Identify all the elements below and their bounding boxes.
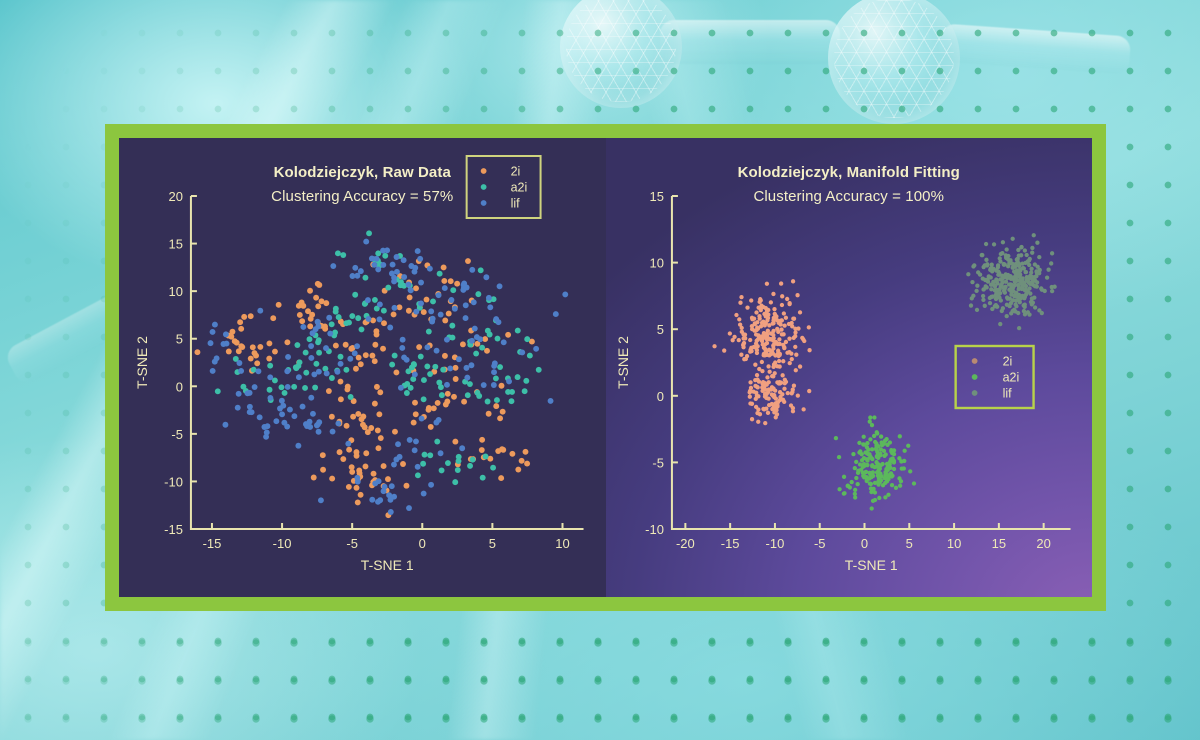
legend-label-a2i: a2i: [1002, 370, 1019, 384]
svg-text:-20: -20: [675, 536, 694, 551]
svg-text:-10: -10: [645, 522, 664, 537]
scatter-series-2i: [712, 279, 811, 425]
svg-text:-5: -5: [813, 536, 825, 551]
svg-text:T-SNE 1: T-SNE 1: [844, 557, 897, 573]
legend-swatch-2i: [481, 168, 487, 174]
svg-text:-5: -5: [171, 427, 183, 442]
svg-text:-15: -15: [203, 536, 222, 551]
panel-raw-data: Kolodziejczyk, Raw Data Clustering Accur…: [119, 138, 606, 597]
svg-text:0: 0: [860, 536, 867, 551]
svg-text:20: 20: [168, 189, 182, 204]
svg-text:0: 0: [176, 379, 183, 394]
svg-text:10: 10: [168, 284, 182, 299]
legend-swatch-lif: [481, 200, 487, 206]
legend-swatch-2i: [971, 358, 977, 364]
svg-text:0: 0: [419, 536, 426, 551]
svg-text:-5: -5: [652, 455, 664, 470]
svg-text:-15: -15: [720, 536, 739, 551]
figure-frame: Kolodziejczyk, Raw Data Clustering Accur…: [105, 124, 1106, 611]
legend-label-2i: 2i: [511, 164, 521, 178]
svg-text:0: 0: [656, 389, 663, 404]
svg-text:10: 10: [946, 536, 960, 551]
scatter-series-lif: [208, 239, 569, 515]
legend-swatch-a2i: [481, 184, 487, 190]
svg-text:10: 10: [649, 256, 663, 271]
svg-text:15: 15: [649, 189, 663, 204]
halftone-dot-pattern-bottom: [0, 615, 1200, 740]
svg-text:15: 15: [168, 237, 182, 252]
chart-legend: 2ia2ilif: [955, 346, 1033, 408]
svg-text:5: 5: [656, 322, 663, 337]
legend-label-lif: lif: [1002, 386, 1012, 400]
panel-manifold-fitting: Kolodziejczyk, Manifold Fitting Clusteri…: [606, 138, 1093, 597]
svg-text:T-SNE 2: T-SNE 2: [614, 336, 630, 389]
legend-label-lif: lif: [511, 196, 521, 210]
chart-legend: 2ia2ilif: [467, 156, 541, 218]
legend-swatch-a2i: [971, 374, 977, 380]
svg-text:-10: -10: [273, 536, 292, 551]
svg-text:20: 20: [1036, 536, 1050, 551]
legend-swatch-lif: [971, 390, 977, 396]
svg-text:-5: -5: [346, 536, 358, 551]
svg-text:-10: -10: [164, 474, 183, 489]
svg-text:T-SNE 2: T-SNE 2: [134, 336, 150, 389]
svg-text:15: 15: [991, 536, 1005, 551]
svg-text:-10: -10: [765, 536, 784, 551]
svg-text:-15: -15: [164, 522, 183, 537]
scatter-series-a2i: [833, 415, 915, 510]
screenshot-stage: Kolodziejczyk, Raw Data Clustering Accur…: [0, 0, 1200, 740]
legend-label-2i: 2i: [1002, 354, 1012, 368]
svg-text:5: 5: [176, 332, 183, 347]
legend-label-a2i: a2i: [511, 180, 528, 194]
figure-inner: Kolodziejczyk, Raw Data Clustering Accur…: [119, 138, 1092, 597]
svg-text:5: 5: [489, 536, 496, 551]
scatter-plot-manifold-fitting: -20-15-10-505101520151050-5-10T-SNE 1T-S…: [606, 138, 1093, 597]
scatter-series-lif: [966, 233, 1057, 330]
scatter-plot-raw-data: -15-10-5051020151050-5-10-15T-SNE 1T-SNE…: [119, 138, 606, 597]
svg-text:5: 5: [905, 536, 912, 551]
svg-text:10: 10: [555, 536, 569, 551]
svg-text:T-SNE 1: T-SNE 1: [361, 557, 414, 573]
